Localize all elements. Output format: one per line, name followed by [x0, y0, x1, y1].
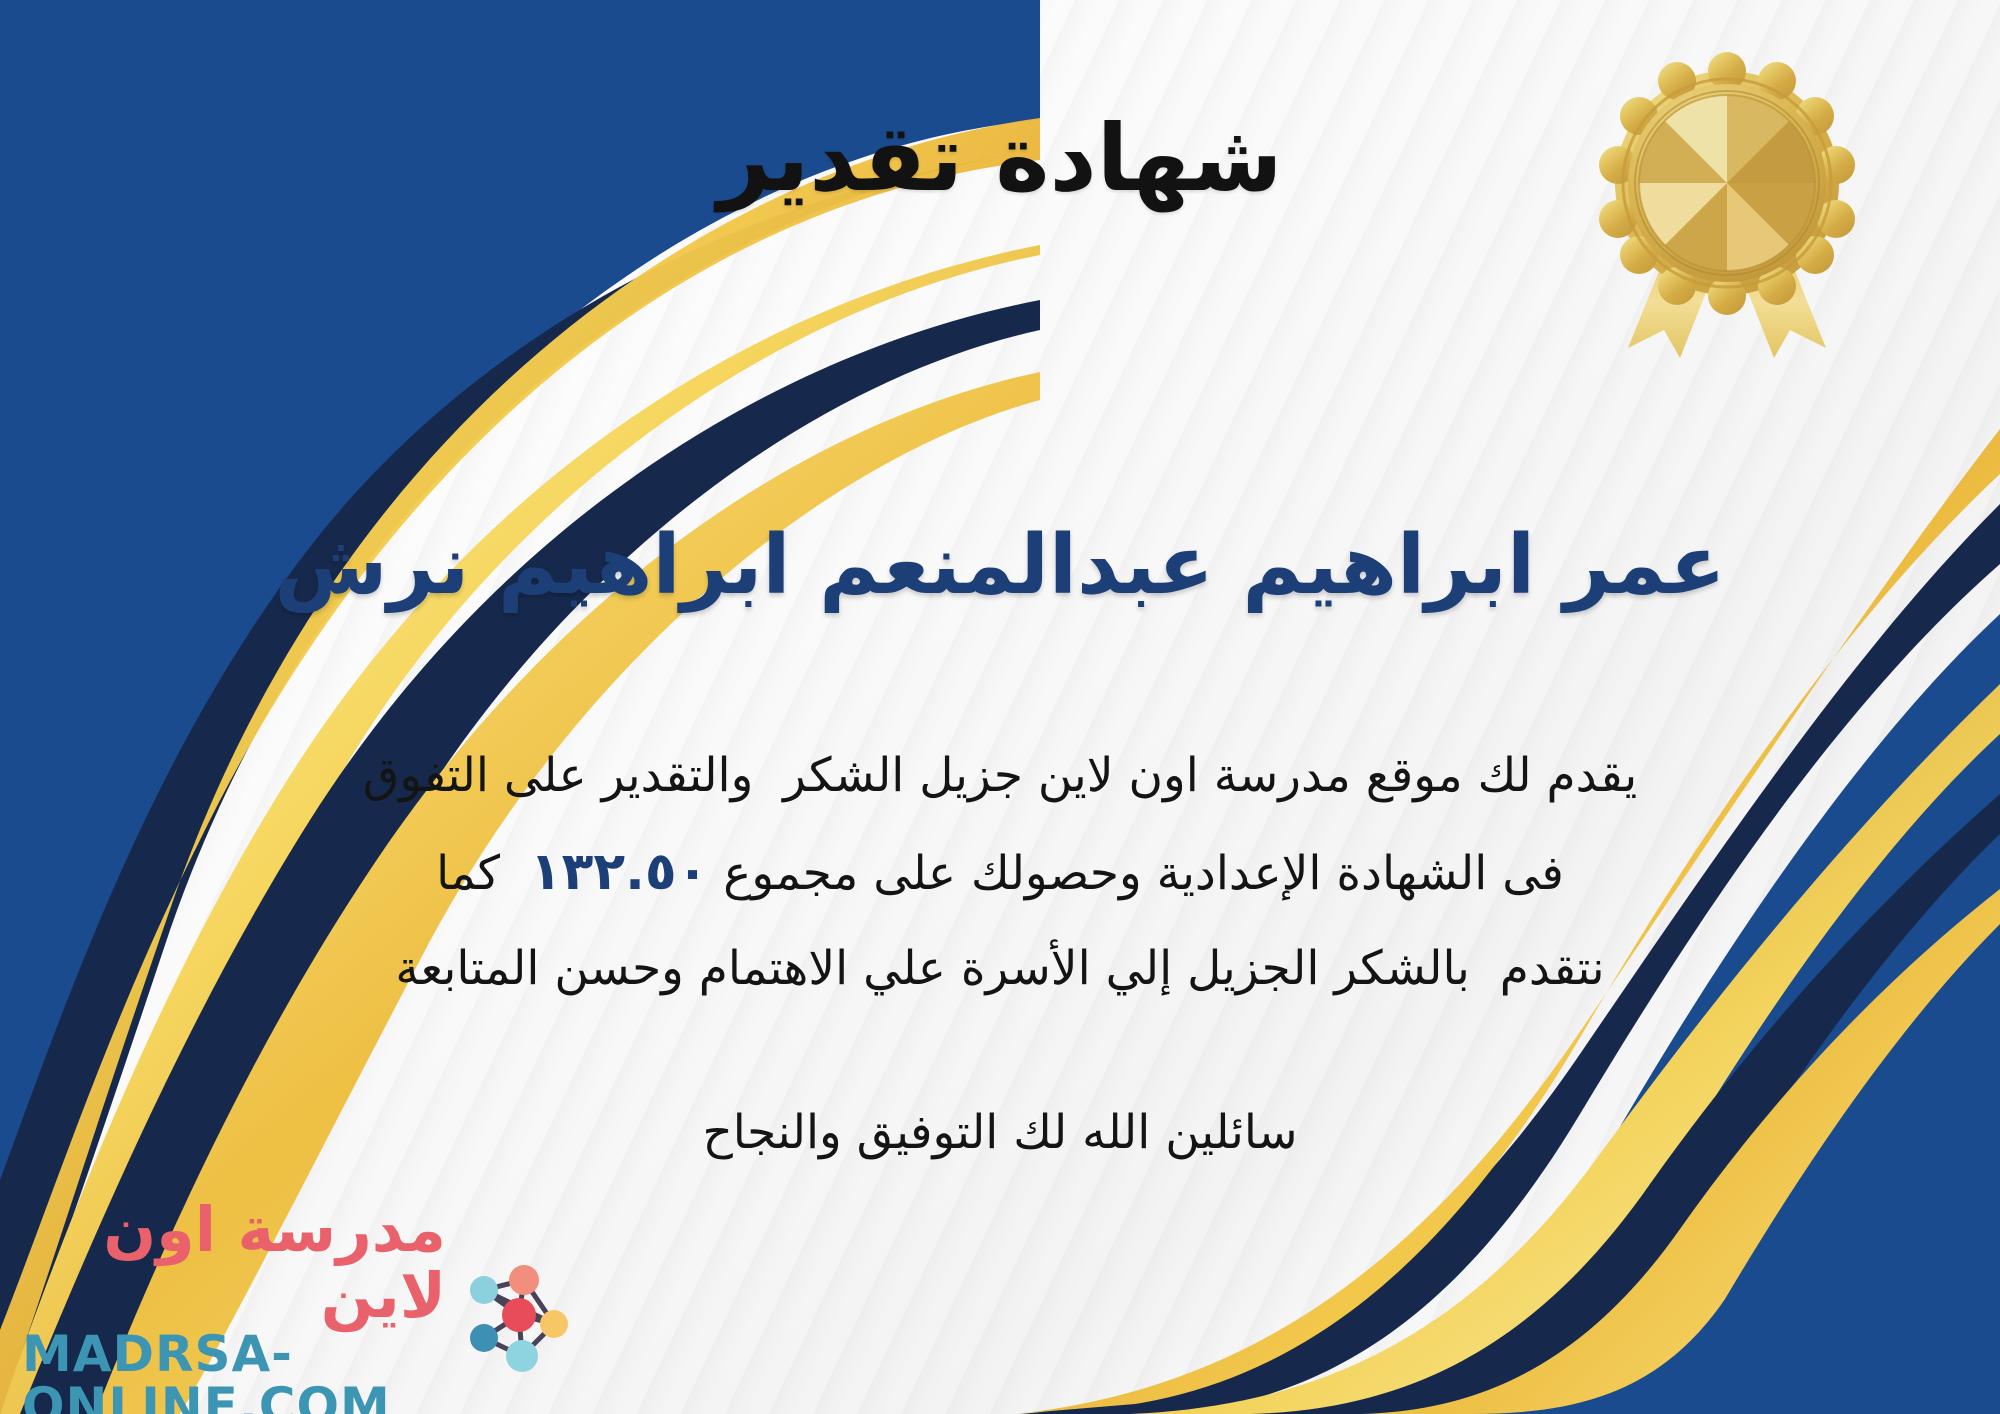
body-line-2: فى الشهادة الإعدادية وحصولك على مجموع ١٣… [80, 822, 1920, 923]
brand-website-url: MADRSA-ONLINE.COM [22, 1328, 446, 1414]
total-score-value: ١٣٢.٥٠ [530, 842, 708, 902]
network-graph-icon [456, 1252, 582, 1378]
brand-logo[interactable]: مدرسة اون لاين MADRSA-ONLINE.COM [22, 1240, 582, 1390]
certificate-canvas: شهادة تقدير عمر ابراهيم عبدالمنعم ابراهي… [0, 0, 2000, 1414]
body-line-2-suffix: كما [436, 846, 530, 901]
body-line-3: نتقدم بالشكر الجزيل إلي الأسرة علي الاهت… [80, 923, 1920, 1015]
certificate-body: يقدم لك موقع مدرسة اون لاين جزيل الشكر و… [80, 730, 1920, 1015]
student-name: عمر ابراهيم عبدالمنعم ابراهيم نرش [0, 520, 2000, 612]
certificate-title: شهادة تقدير [0, 108, 2000, 209]
closing-wish: سائلين الله لك التوفيق والنجاح [0, 1105, 2000, 1160]
body-line-1: يقدم لك موقع مدرسة اون لاين جزيل الشكر و… [80, 730, 1920, 822]
brand-logo-text: مدرسة اون لاين MADRSA-ONLINE.COM [22, 1197, 446, 1414]
brand-name-arabic: مدرسة اون لاين [22, 1197, 446, 1327]
body-line-2-prefix: فى الشهادة الإعدادية وحصولك على مجموع [708, 846, 1563, 901]
